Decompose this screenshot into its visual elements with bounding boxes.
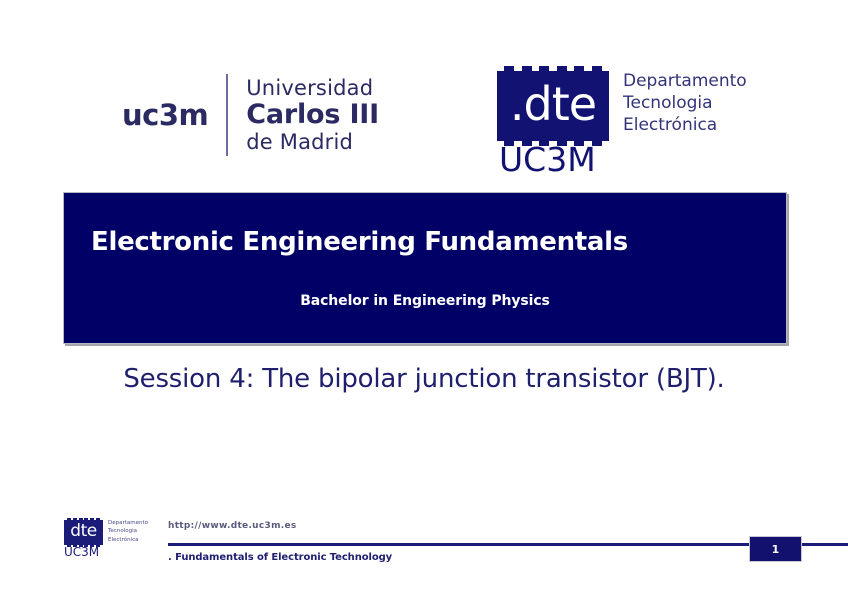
footer-uc3m-label: UC3M bbox=[64, 546, 148, 558]
degree-subtitle: Bachelor in Engineering Physics bbox=[64, 293, 786, 309]
footer-chip-label: dte bbox=[64, 520, 103, 545]
uc3m-wordmark: uc3m bbox=[122, 101, 226, 130]
footer-chip-icon: dte bbox=[64, 520, 103, 545]
uc3m-university-logo: uc3m Universidad Carlos III de Madrid bbox=[122, 72, 379, 158]
page-number-badge: 1 bbox=[749, 536, 802, 562]
dte-dept-line-2: Tecnologia bbox=[623, 92, 747, 114]
chip-pins-bottom-icon bbox=[504, 141, 602, 146]
footer-dte-logo: dte Departamento Tecnologia Electrónica … bbox=[64, 518, 148, 558]
footer-department-name: Departamento Tecnologia Electrónica bbox=[108, 518, 148, 544]
title-band: Electronic Engineering Fundamentals Bach… bbox=[63, 192, 787, 344]
dte-chip-icon: .dte bbox=[497, 71, 609, 141]
dte-logo-top-row: .dte Departamento Tecnologia Electrónica bbox=[497, 66, 747, 141]
dte-dept-line-1: Departamento bbox=[623, 70, 747, 92]
dte-uc3m-label: UC3M bbox=[499, 143, 747, 176]
session-title: Session 4: The bipolar junction transist… bbox=[0, 364, 848, 394]
footer-dept-line-2: Tecnologia bbox=[108, 527, 148, 535]
uc3m-line-carlos-iii: Carlos III bbox=[246, 100, 379, 129]
dte-dept-line-3: Electrónica bbox=[623, 114, 747, 136]
uc3m-name-stack: Universidad Carlos III de Madrid bbox=[228, 72, 379, 158]
slide-footer: dte Departamento Tecnologia Electrónica … bbox=[0, 508, 848, 578]
dte-chip-label: .dte bbox=[497, 71, 609, 141]
title-band-container: Electronic Engineering Fundamentals Bach… bbox=[63, 192, 787, 344]
footer-course-name: . Fundamentals of Electronic Technology bbox=[168, 552, 392, 563]
footer-divider-rule bbox=[168, 543, 848, 546]
dte-department-logo: .dte Departamento Tecnologia Electrónica… bbox=[497, 66, 747, 176]
footer-chip-pins-bottom-icon bbox=[67, 545, 100, 547]
uc3m-line-universidad: Universidad bbox=[246, 77, 379, 100]
footer-website-url[interactable]: http://www.dte.uc3m.es bbox=[168, 521, 297, 531]
footer-dept-line-1: Departamento bbox=[108, 519, 148, 527]
dte-department-name: Departamento Tecnologia Electrónica bbox=[623, 66, 747, 136]
footer-dept-line-3: Electrónica bbox=[108, 536, 148, 544]
footer-logo-top-row: dte Departamento Tecnologia Electrónica bbox=[64, 518, 148, 545]
slide-header-logos: uc3m Universidad Carlos III de Madrid .d… bbox=[0, 0, 848, 182]
page-title: Electronic Engineering Fundamentals bbox=[91, 227, 628, 257]
uc3m-line-de-madrid: de Madrid bbox=[246, 131, 379, 154]
presentation-slide: uc3m Universidad Carlos III de Madrid .d… bbox=[0, 0, 848, 599]
